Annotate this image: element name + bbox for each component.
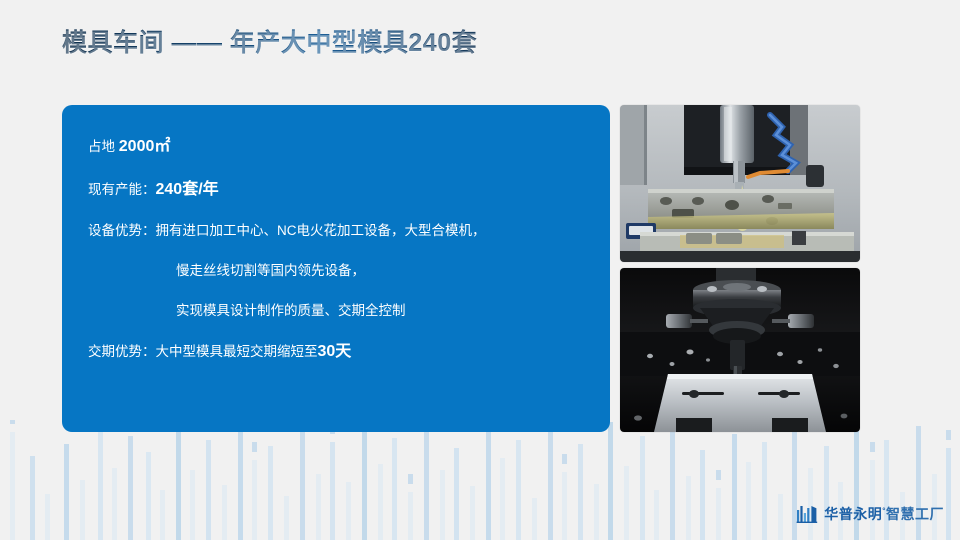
decor-bar [10,432,15,540]
decor-bar [824,446,829,540]
panel-line-delivery-value: 30天 [318,343,352,360]
decor-bar [128,436,133,540]
decor-bar [316,474,321,540]
decor-bar [778,494,783,540]
panel-line-equipment-3: 实现模具设计制作的质量、交期全控制 [88,301,584,321]
brand-name: 华普永明 [824,506,882,522]
decor-bar [454,448,459,540]
decor-bar [946,448,951,540]
decor-bar [746,462,751,540]
decor-bar [190,470,195,540]
decor-bar [486,426,491,540]
decor-bar-accent [252,442,257,452]
decor-bar [500,458,505,540]
decor-bar [716,488,721,540]
decor-bar [112,468,117,540]
decor-bar [408,492,413,540]
decor-bar [252,460,257,540]
decor-bar [700,450,705,540]
photo-cnc-milling-coolant-graphic [620,105,860,262]
brand-tagline: 智慧工厂 [886,506,944,522]
panel-line-equipment-1-text: 设备优势：拥有进口加工中心、NC电火花加工设备，大型合模机， [88,223,486,238]
panel-line-area: 占地 2000㎡ [88,135,584,158]
panel-line-capacity-value: 240套/年 [156,181,219,198]
info-panel: 占地 2000㎡ 现有产能：240套/年 设备优势：拥有进口加工中心、NC电火花… [62,105,610,432]
decor-bar-accent [408,474,413,484]
decor-bar [608,422,613,540]
decor-bar [146,452,151,540]
decor-bar-accent [562,454,567,464]
panel-line-equipment-1: 设备优势：拥有进口加工中心、NC电火花加工设备，大型合模机， [88,221,584,241]
decor-bar [470,486,475,540]
decor-bar [392,438,397,540]
decor-bar [176,422,181,540]
photo-cnc-spindle-darkroom-graphic [620,268,860,432]
panel-line-area-prefix: 占地 [88,139,119,154]
decor-bar-accent [716,470,721,480]
decor-bar [300,428,305,540]
decor-bar [378,464,383,540]
decor-bar [594,484,599,540]
brand-logo: 华普永明°智慧工厂 [796,504,944,524]
decor-bar [562,472,567,540]
decor-bar [330,442,335,540]
decor-bar [160,490,165,540]
decor-bar [440,470,445,540]
decor-bar [80,480,85,540]
decor-bar [30,456,35,540]
decor-bar [640,436,645,540]
photo-cnc-milling-coolant [620,105,860,262]
panel-line-area-value: 2000㎡ [119,138,171,155]
panel-line-delivery: 交期优势：大中型模具最短交期缩短至30天 [88,340,584,363]
decor-bar [516,440,521,540]
decor-bar [578,444,583,540]
panel-line-equipment-3-text: 实现模具设计制作的质量、交期全控制 [176,303,406,318]
bar-chart-building-icon [796,504,818,524]
photo-cnc-spindle-darkroom [620,268,860,432]
decor-bar [268,446,273,540]
decor-bar [206,440,211,540]
decor-bar [424,432,429,540]
decor-bar [98,426,103,540]
panel-line-equipment-2-text: 慢走丝线切割等国内领先设备， [176,263,365,278]
decor-bar [362,424,367,540]
decor-bar [284,496,289,540]
decor-bar [45,494,50,540]
decor-bar [686,476,691,540]
decor-bar [624,466,629,540]
decor-bar [732,434,737,540]
panel-line-delivery-prefix: 交期优势：大中型模具最短交期缩短至 [88,344,318,359]
panel-line-capacity: 现有产能：240套/年 [88,178,584,201]
decor-bar-accent [870,442,875,452]
decor-bar [64,444,69,540]
decor-bar [884,440,889,540]
decor-bar [870,460,875,540]
decor-bar [346,482,351,540]
decor-bar [762,442,767,540]
page-title: 模具车间 —— 年产大中型模具240套 [62,28,477,58]
decor-bar [238,430,243,540]
decor-bar [670,428,675,540]
decor-bar-accent [946,430,951,440]
slide-root: 模具车间 —— 年产大中型模具240套 占地 2000㎡ 现有产能：240套/年… [0,0,960,540]
panel-line-equipment-2: 慢走丝线切割等国内领先设备， [88,261,584,281]
decor-bar [654,490,659,540]
decor-bar [222,485,227,540]
decor-bar [532,498,537,540]
brand-logo-text: 华普永明°智慧工厂 [824,504,944,524]
decor-bar-accent [10,420,15,424]
panel-line-capacity-prefix: 现有产能： [88,182,156,197]
decor-bar [548,430,553,540]
